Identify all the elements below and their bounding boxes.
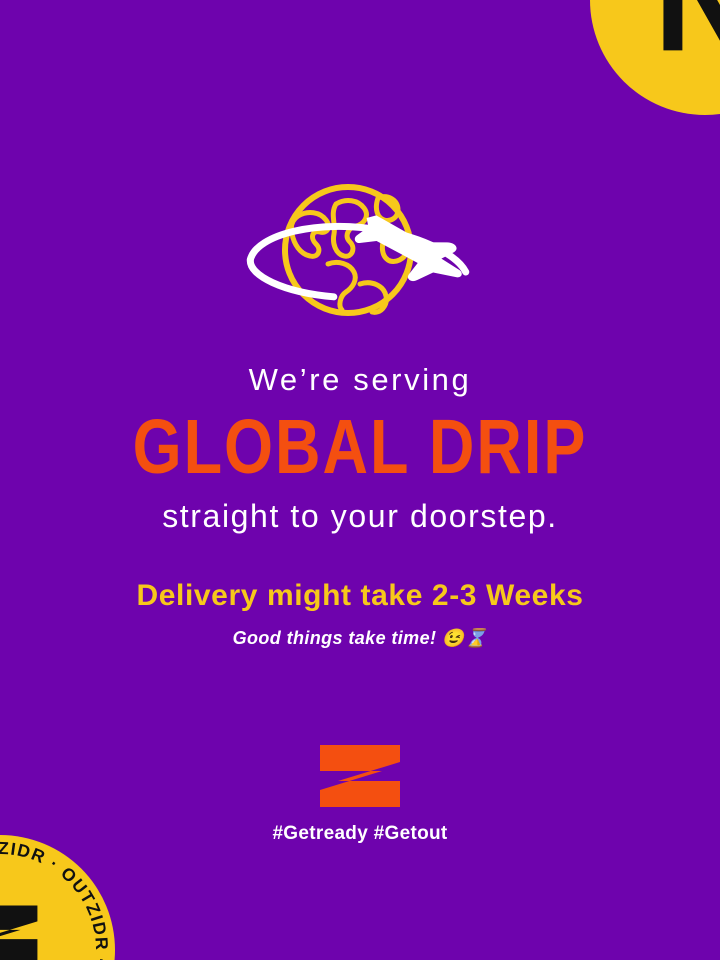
outzidr-badge-top-right: OUTZIDR · OUTZIDR · OUTZIDR · OUTZIDR · … (590, 0, 720, 115)
footer-brand: #Getready #Getout (0, 745, 720, 845)
badge-inner-top-right: N (620, 0, 720, 61)
outzidr-badge-bottom-left: OUTZIDR · OUTZIDR · OUTZIDR · OUTZIDR · … (0, 835, 115, 960)
globe-airplane-graphic (240, 168, 480, 338)
hero-illustration (0, 168, 720, 348)
headline-text: GLOBAL DRIP (0, 406, 720, 489)
subhead-text: straight to your doorstep. (0, 498, 720, 535)
badge-inner-bottom-left: OUTZIDR (0, 906, 75, 960)
badge-letter: N (620, 0, 720, 61)
z-logo-mark-badge (0, 906, 64, 960)
delivery-note-text: Good things take time! 😉⌛ (0, 628, 720, 650)
eyebrow-text: We’re serving (0, 362, 720, 398)
message-block: We’re serving GLOBAL DRIP straight to yo… (0, 362, 720, 650)
z-logo-mark (320, 745, 400, 807)
airplane-icon (351, 192, 474, 306)
delivery-estimate-text: Delivery might take 2-3 Weeks (0, 578, 720, 614)
promo-poster: We’re serving GLOBAL DRIP straight to yo… (0, 0, 720, 960)
